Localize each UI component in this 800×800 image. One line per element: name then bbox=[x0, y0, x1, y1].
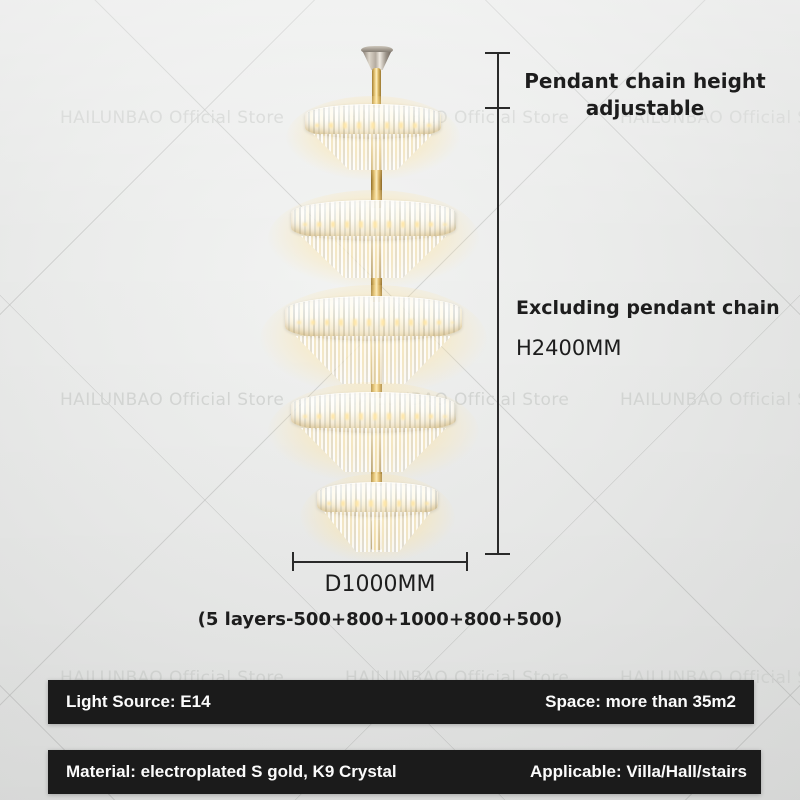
spec-light-source-text: Light Source: E14 bbox=[66, 692, 211, 711]
pendant-chain-segment bbox=[372, 68, 381, 108]
spec-light-source-cell: Light Source: E14 bbox=[66, 692, 211, 712]
spec-space-text: Space: more than 35m2 bbox=[545, 692, 736, 711]
tier-5-bottom bbox=[317, 482, 438, 556]
pendant-chain-line2: adjustable bbox=[505, 95, 785, 122]
diameter-dimension-line bbox=[292, 561, 468, 563]
tier-bulb-rim bbox=[322, 500, 433, 507]
tier-crystal-skirt bbox=[296, 336, 452, 384]
tier-bulb-rim bbox=[292, 319, 455, 326]
tier-4 bbox=[291, 392, 456, 476]
height-dimension-cap-top bbox=[485, 52, 510, 54]
excluding-chain-label: Excluding pendant chain bbox=[516, 297, 780, 319]
tier-crystal-skirt bbox=[324, 512, 431, 552]
layers-breakdown-label: (5 layers-500+800+1000+800+500) bbox=[130, 609, 630, 630]
tier-2 bbox=[291, 200, 456, 282]
diameter-value-label: D1000MM bbox=[180, 572, 580, 597]
spec-applicable-cell: Applicable: Villa/Hall/stairs bbox=[530, 762, 747, 782]
height-dimension-cap-bottom bbox=[485, 553, 510, 555]
diameter-dimension-cap-left bbox=[292, 552, 294, 571]
pendant-chain-annotation: Pendant chain height adjustable bbox=[505, 68, 785, 122]
product-spec-image: HAILUNBAO Official StoreHAILUNBAO Offici… bbox=[0, 0, 800, 800]
spec-banner-row-1: Light Source: E14 Space: more than 35m2 bbox=[48, 680, 754, 724]
height-dimension-line bbox=[497, 52, 499, 555]
tier-bulb-rim bbox=[298, 221, 450, 228]
pendant-chain-line1: Pendant chain height bbox=[505, 68, 785, 95]
tier-bulb-rim bbox=[298, 413, 450, 420]
spec-material-text: Material: electroplated S gold, K9 Cryst… bbox=[66, 762, 397, 781]
height-value-label: H2400MM bbox=[516, 336, 621, 360]
tier-bulb-rim bbox=[310, 122, 435, 129]
tier-crystal-skirt bbox=[301, 236, 446, 278]
spec-space-cell: Space: more than 35m2 bbox=[545, 692, 736, 712]
diameter-dimension-cap-right bbox=[466, 552, 468, 571]
tier-crystal-skirt bbox=[301, 428, 446, 472]
spec-applicable-text: Applicable: Villa/Hall/stairs bbox=[530, 762, 747, 781]
spec-material-cell: Material: electroplated S gold, K9 Cryst… bbox=[66, 762, 397, 782]
spec-banner-row-2: Material: electroplated S gold, K9 Cryst… bbox=[48, 750, 761, 794]
tier-1-top bbox=[305, 104, 441, 174]
tier-3-widest bbox=[285, 296, 462, 388]
tier-crystal-skirt bbox=[313, 134, 433, 170]
